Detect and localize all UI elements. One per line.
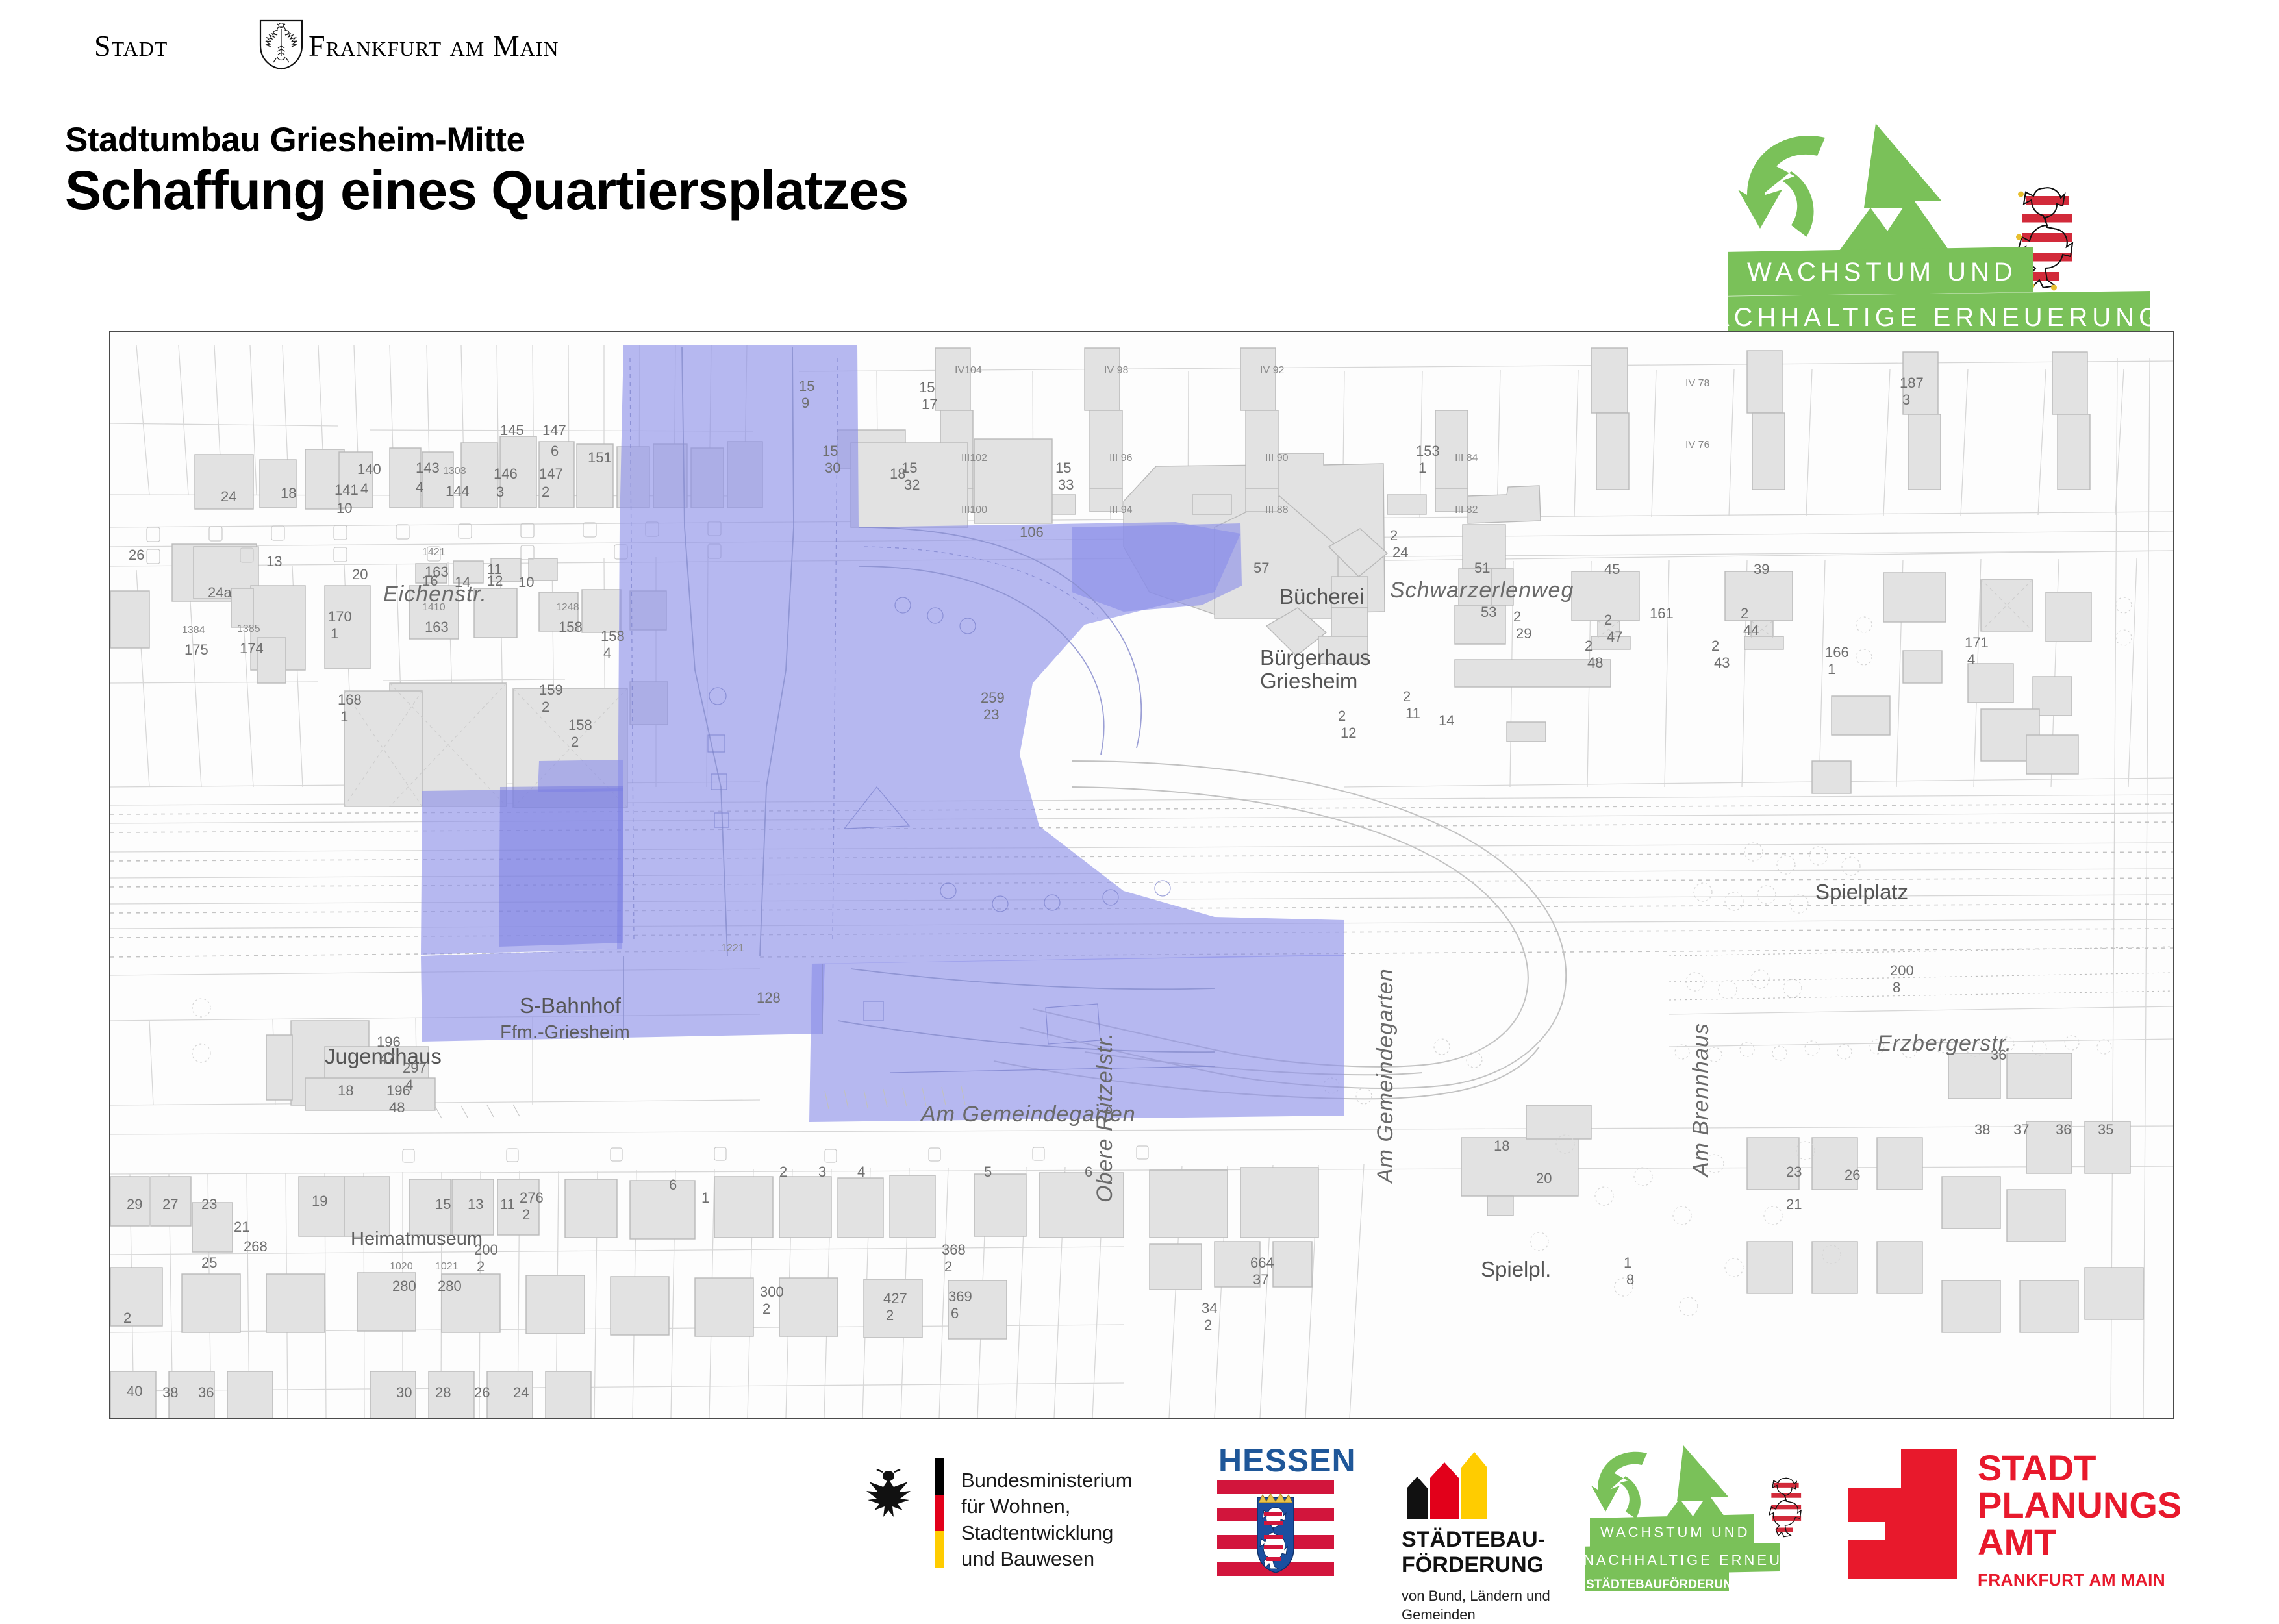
- map-vector-layer: [110, 332, 2173, 1418]
- bmwsb-line-2: für Wohnen, Stadtentwicklung: [961, 1493, 1169, 1546]
- frankfurt-eagle-coat-of-arms-icon: [258, 19, 305, 70]
- stadtplanungsamt-line-2: PLANUNGS: [1978, 1486, 2182, 1523]
- bmwsb-line-1: Bundesministerium: [961, 1468, 1169, 1493]
- staedtebaufoerderung-logo: STÄDTEBAU- FÖRDERUNG von Bund, Ländern u…: [1390, 1448, 1559, 1584]
- city-of-frankfurt-logo: Stadt Frankfurt am Main: [94, 26, 516, 65]
- stadtplanungsamt-logo: STADT PLANUNGS AMT FRANKFURT AM MAIN: [1848, 1442, 2211, 1584]
- staedtebau-line-2: FÖRDERUNG: [1402, 1553, 1545, 1578]
- bundesadler-eagle-icon: [864, 1465, 913, 1524]
- cadastral-map[interactable]: Eichenstr.SchwarzerlenwegErzbergerstr.Am…: [109, 331, 2174, 1419]
- three-houses-icon: [1402, 1448, 1492, 1523]
- german-flag-bar: [935, 1458, 944, 1568]
- city-logo-text-right: Frankfurt am Main: [308, 29, 559, 63]
- page-title: Schaffung eines Quartiersplatzes: [65, 159, 908, 222]
- stadtplanungsamt-line-3: AMT: [1978, 1523, 2182, 1560]
- city-logo-text-left: Stadt: [94, 29, 168, 63]
- staedtebau-line-1: STÄDTEBAU-: [1402, 1527, 1545, 1553]
- footer-logo-line2-text: NACHHALTIGE ERNEUERUNG: [1585, 1552, 1846, 1568]
- hessen-growth-renewal-logo-footer: WACHSTUM UND NACHHALTIGE ERNEUERUNG STÄD…: [1585, 1442, 1857, 1591]
- hessen-coat-of-arms-icon: [1217, 1480, 1334, 1581]
- footer-logo-line1-text: WACHSTUM UND: [1600, 1524, 1750, 1540]
- hessen-state-logo: HESSEN: [1213, 1442, 1343, 1578]
- logo-line1-text: WACHSTUM UND: [1747, 258, 2017, 286]
- recycle-arrow-icon: [1738, 136, 1825, 237]
- hessen-wordmark: HESSEN: [1218, 1442, 1356, 1479]
- footer-logo-bar: Bundesministerium für Wohnen, Stadtentwi…: [0, 1429, 2279, 1610]
- page-header: Stadt Frankfurt am Main Stadt: [0, 0, 2279, 325]
- bmwsb-logo: Bundesministerium für Wohnen, Stadtentwi…: [864, 1453, 1169, 1570]
- staedtebau-sub-2: Gemeinden: [1402, 1606, 1550, 1624]
- footer-logo-line3-text: STÄDTEBAUFÖRDERUNG HESSEN: [1586, 1578, 1796, 1591]
- bmwsb-line-3: und Bauwesen: [961, 1546, 1169, 1572]
- stadtplanungsamt-sub: FRANKFURT AM MAIN: [1978, 1570, 2165, 1590]
- hessen-lion-icon: [1769, 1478, 1801, 1536]
- stadtplanungsamt-mark-icon: [1848, 1449, 1957, 1582]
- page-subtitle: Stadtumbau Griesheim-Mitte: [65, 120, 525, 160]
- recycle-arrow-icon: [1591, 1452, 1647, 1519]
- logo-line2-text: NACHHALTIGE ERNEUERUNG: [1728, 303, 2163, 332]
- stadtplanungsamt-line-1: STADT: [1978, 1449, 2182, 1486]
- staedtebau-sub-1: von Bund, Ländern und: [1402, 1587, 1550, 1606]
